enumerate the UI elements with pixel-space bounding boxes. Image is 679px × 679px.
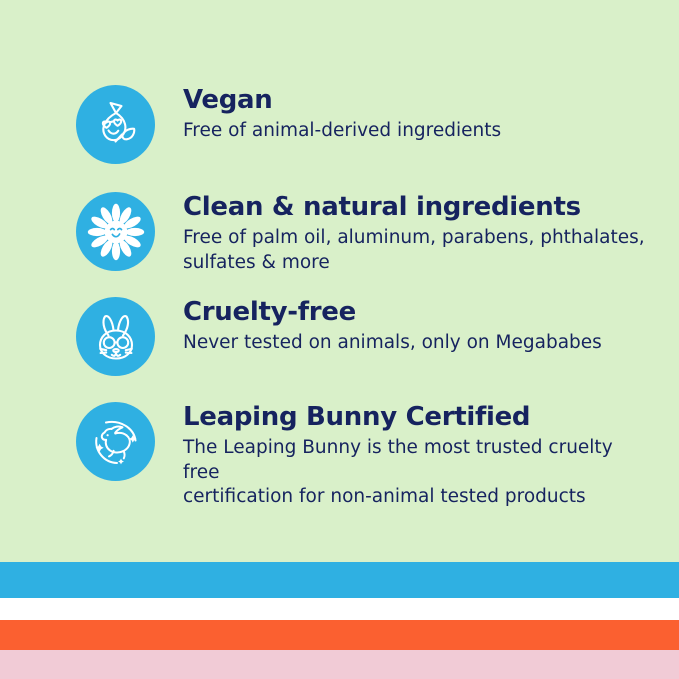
feature-item-clean-natural: Clean & natural ingredients Free of palm… (76, 192, 645, 275)
feature-description-line-1: Free of palm oil, aluminum, parabens, ph… (183, 227, 645, 248)
feature-description: The Leaping Bunny is the most trusted cr… (183, 436, 653, 511)
feature-description: Free of palm oil, aluminum, parabens, ph… (183, 226, 645, 276)
feature-description-line-1: The Leaping Bunny is the most trusted cr… (183, 437, 613, 483)
feature-item-cruelty-free: Cruelty-free Never tested on animals, on… (76, 297, 602, 376)
feature-text-block: Vegan Free of animal-derived ingredients (183, 85, 501, 144)
feature-title: Vegan (183, 87, 501, 115)
feature-description-line-2: certification for non-animal tested prod… (183, 485, 653, 510)
product-claims-poster: Vegan Free of animal-derived ingredients (0, 0, 679, 679)
feature-text-block: Leaping Bunny Certified The Leaping Bunn… (183, 402, 653, 510)
feature-description: Free of animal-derived ingredients (183, 119, 501, 144)
white-band (0, 598, 679, 620)
orange-band (0, 620, 679, 650)
pink-band (0, 650, 679, 679)
berry-face-leaf-icon (76, 85, 155, 164)
feature-list: Vegan Free of animal-derived ingredients (0, 0, 679, 562)
feature-text-block: Cruelty-free Never tested on animals, on… (183, 297, 602, 356)
bunny-face-glasses-icon (76, 297, 155, 376)
feature-description-line-1: Free of animal-derived ingredients (183, 120, 501, 141)
feature-description-line-1: Never tested on animals, only on Megabab… (183, 332, 602, 353)
feature-item-vegan: Vegan Free of animal-derived ingredients (76, 85, 501, 164)
feature-description: Never tested on animals, only on Megabab… (183, 331, 602, 356)
leaping-bunny-logo-icon (76, 402, 155, 481)
feature-text-block: Clean & natural ingredients Free of palm… (183, 192, 645, 275)
daisy-flower-face-icon (76, 192, 155, 271)
feature-title: Cruelty-free (183, 299, 602, 327)
blue-band (0, 562, 679, 598)
feature-item-leaping-bunny: Leaping Bunny Certified The Leaping Bunn… (76, 402, 653, 510)
feature-title: Clean & natural ingredients (183, 194, 645, 222)
feature-title: Leaping Bunny Certified (183, 404, 653, 432)
feature-description-line-2: sulfates & more (183, 251, 645, 276)
